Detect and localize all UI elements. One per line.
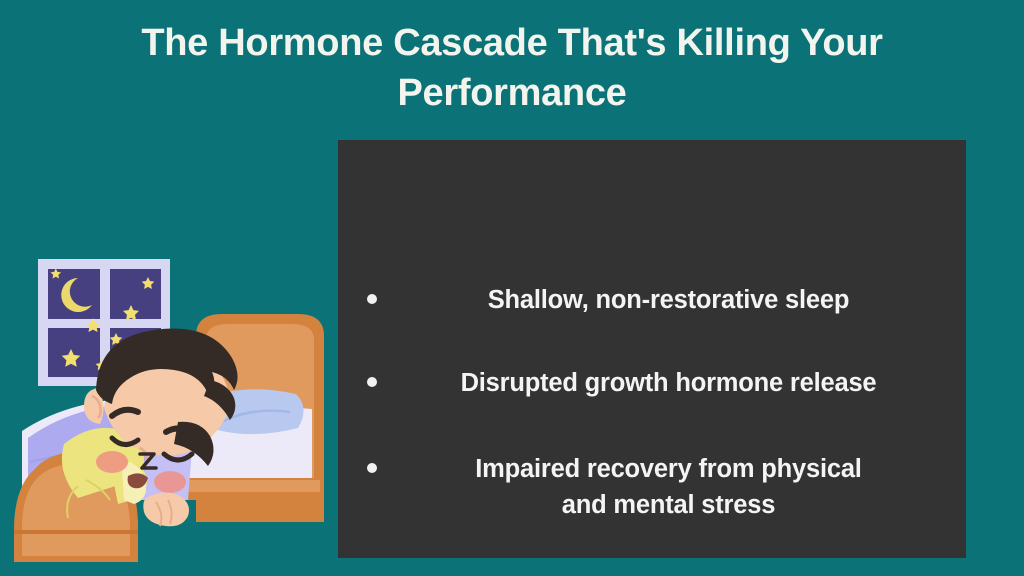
sleeping-boy-illustration <box>0 230 340 576</box>
page-title: The Hormone Cascade That's Killing Your … <box>50 18 974 118</box>
bullet-dot-icon <box>367 463 377 473</box>
bullet-dot-icon <box>367 294 377 304</box>
slide-canvas: The Hormone Cascade That's Killing Your … <box>0 0 1024 576</box>
bullet-dot-icon <box>367 377 377 387</box>
list-item: Shallow, non-restorative sleep <box>338 282 966 318</box>
list-item-label: Shallow, non-restorative sleep <box>377 282 966 318</box>
list-item: Disrupted growth hormone release <box>338 365 966 401</box>
list-item-label: Disrupted growth hormone release <box>377 365 966 401</box>
list-item-label-line1: Impaired recovery from physical <box>475 455 861 483</box>
list-item-label: Impaired recovery from physical and ment… <box>377 451 966 523</box>
list-item-label-line2: and mental stress <box>381 487 956 523</box>
list-item: Impaired recovery from physical and ment… <box>338 451 966 523</box>
bullet-list-panel: Shallow, non-restorative sleep Disrupted… <box>338 140 966 558</box>
